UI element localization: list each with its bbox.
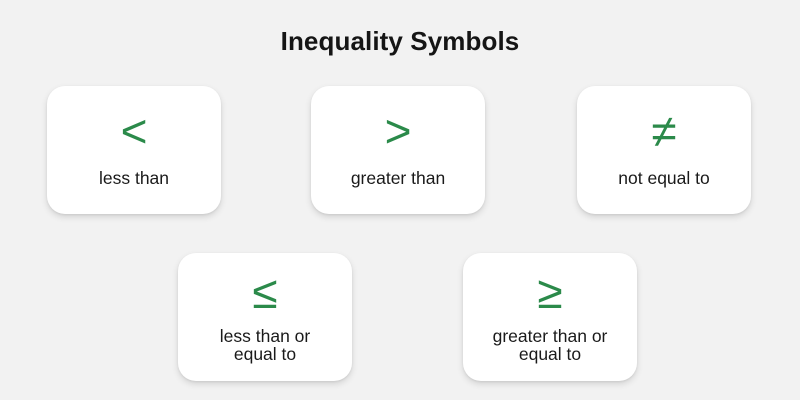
symbol-card-label: greater than [351,169,445,187]
symbol-card-not-equal-to[interactable]: ≠ not equal to [577,86,751,214]
symbol-card-label: not equal to [618,169,709,187]
symbol-card-greater-than[interactable]: > greater than [311,86,485,214]
symbol-card-label: less than or equal to [165,327,365,364]
greater-than-sign-icon: > [385,108,412,154]
less-than-or-equal-sign-icon: ≤ [252,269,277,315]
less-than-sign-icon: < [121,108,148,154]
symbol-card-less-than-or-equal-to[interactable]: ≤ less than or equal to [178,253,352,381]
not-equal-sign-icon: ≠ [651,108,676,154]
symbol-card-less-than[interactable]: < less than [47,86,221,214]
greater-than-or-equal-sign-icon: ≥ [537,269,562,315]
symbol-card-greater-than-or-equal-to[interactable]: ≥ greater than or equal to [463,253,637,381]
symbol-card-label: greater than or equal to [450,327,650,364]
symbol-card-label: less than [99,169,169,187]
page-title: Inequality Symbols [0,26,800,57]
